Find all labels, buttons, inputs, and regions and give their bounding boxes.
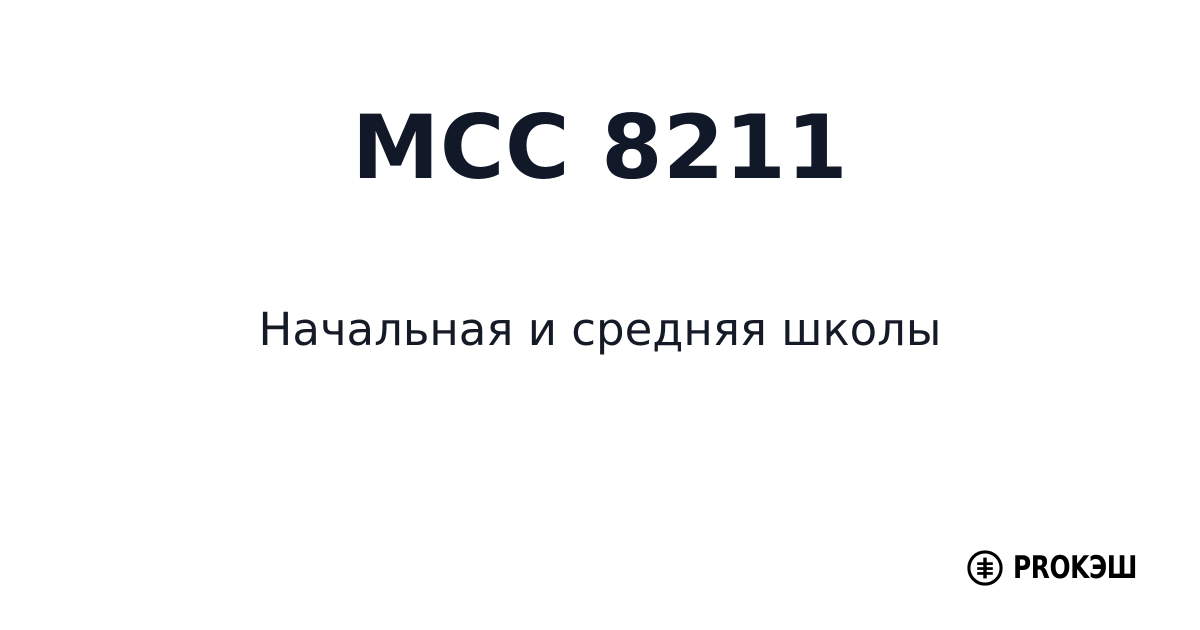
page-subtitle: Начальная и средняя школы [0, 304, 1200, 356]
brand-logo: PROKЭШ [966, 548, 1168, 588]
circled-ruble-mark-icon [966, 549, 1004, 587]
page-title: MCC 8211 [0, 104, 1200, 192]
og-card: MCC 8211 Начальная и средняя школы PROKЭ… [0, 0, 1200, 630]
brand-wordmark: PROKЭШ [1013, 553, 1137, 584]
